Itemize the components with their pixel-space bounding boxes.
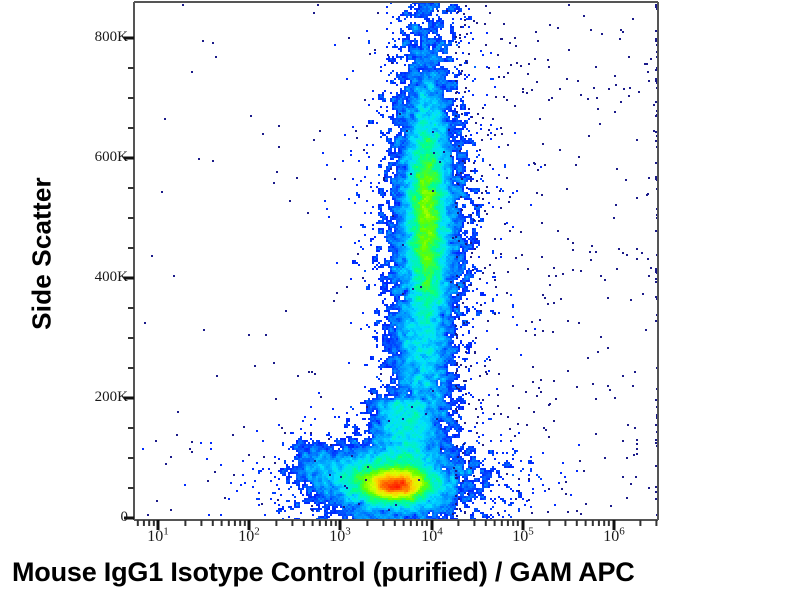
flow-cytometry-figure: Side Scatter 800K600K400K200K0 101102103…: [0, 0, 800, 600]
x-axis-title: Mouse IgG1 Isotype Control (purified) / …: [12, 557, 800, 588]
scatter-plot-canvas: [0, 0, 800, 600]
density-cells: [142, 2, 580, 520]
